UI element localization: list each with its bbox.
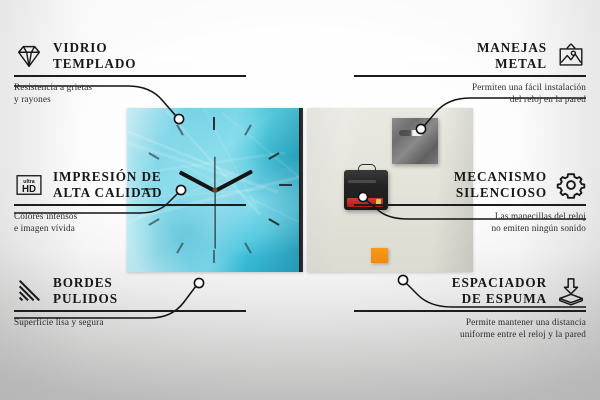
feature-title: VIDRIO TEMPLADO bbox=[53, 40, 136, 71]
wall-hanging-frame-icon bbox=[556, 41, 586, 71]
gear-icon bbox=[556, 170, 586, 200]
polished-edge-icon bbox=[14, 276, 44, 306]
feature-callout-espaciador-espuma: ESPACIADOR DE ESPUMA Permite mantener un… bbox=[354, 275, 586, 340]
feature-divider bbox=[354, 204, 586, 205]
hour-tick bbox=[213, 250, 215, 263]
ultra-hd-icon: ultra HD bbox=[14, 170, 44, 200]
feature-description: Colores intensos e imagen vívida bbox=[14, 210, 246, 235]
feature-title: IMPRESIÓN DE ALTA CALIDAD bbox=[53, 169, 162, 200]
feature-callout-mecanismo-silencioso: MECANISMO SILENCIOSO Las manecillas del … bbox=[354, 169, 586, 234]
feature-callout-vidrio-templado: VIDRIO TEMPLADO Resistencia a grietas y … bbox=[14, 40, 246, 105]
feature-divider bbox=[14, 75, 246, 76]
feature-description: Permite mantener una distancia uniforme … bbox=[354, 316, 586, 341]
feature-title: MANEJAS METAL bbox=[477, 40, 547, 71]
feature-description: Las manecillas del reloj no emiten ningú… bbox=[354, 210, 586, 235]
feature-title: MECANISMO SILENCIOSO bbox=[454, 169, 547, 200]
clock-edge bbox=[299, 108, 303, 272]
feature-description: Resistencia a grietas y rayones bbox=[14, 81, 246, 106]
feature-description: Superficie lisa y segura bbox=[14, 316, 246, 328]
svg-text:HD: HD bbox=[22, 184, 36, 195]
foam-spacer-icon bbox=[556, 276, 586, 306]
feature-callout-bordes-pulidos: BORDES PULIDOS Superficie lisa y segura bbox=[14, 275, 246, 328]
feature-title: ESPACIADOR DE ESPUMA bbox=[452, 275, 547, 306]
feature-divider bbox=[354, 75, 586, 76]
hour-tick bbox=[213, 117, 215, 130]
feature-title: BORDES PULIDOS bbox=[53, 275, 118, 306]
feature-divider bbox=[354, 310, 586, 311]
infographic-canvas: VIDRIO TEMPLADO Resistencia a grietas y … bbox=[0, 0, 600, 400]
diamond-icon bbox=[14, 41, 44, 71]
feature-description: Permiten una fácil instalación del reloj… bbox=[354, 81, 586, 106]
feature-divider bbox=[14, 204, 246, 205]
feature-divider bbox=[14, 310, 246, 311]
feature-callout-manejas-metal: MANEJAS METAL Permiten una fácil instala… bbox=[354, 40, 586, 105]
feature-callout-impresion-alta-calidad: ultra HD IMPRESIÓN DE ALTA CALIDAD Color… bbox=[14, 169, 246, 234]
